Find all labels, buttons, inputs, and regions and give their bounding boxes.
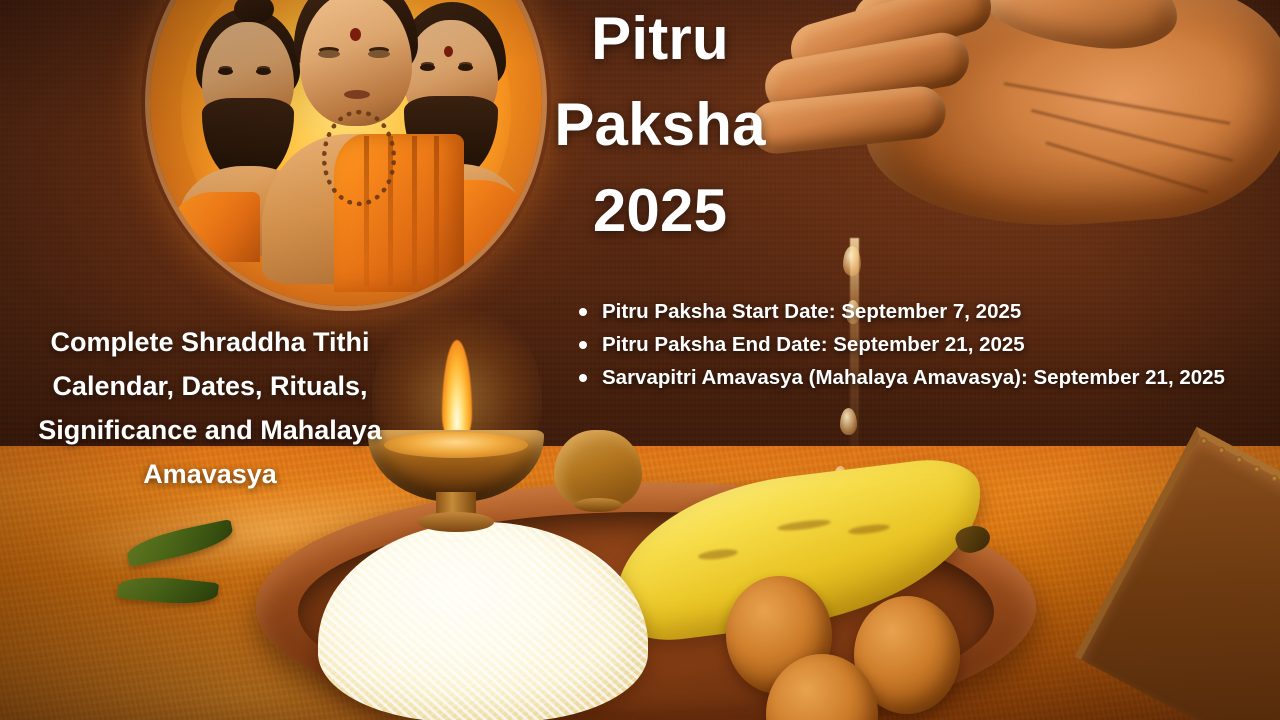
sage-tilak (444, 46, 453, 57)
robe-fold (434, 136, 439, 286)
page-title: Pitru Paksha 2025 (530, 0, 790, 254)
sage-head (300, 0, 412, 126)
banana-spot (848, 523, 891, 536)
title-line-3: 2025 (530, 168, 790, 254)
sage-eye-left (218, 68, 233, 75)
brass-kalash (554, 430, 642, 506)
sage-tilak (350, 28, 361, 41)
rudraksha-mala (322, 110, 396, 206)
banana-spot (777, 518, 832, 533)
banana-spot (698, 548, 739, 562)
subtitle-caption: Complete Shraddha Tithi Calendar, Dates,… (0, 320, 424, 496)
sage-eye-right (458, 64, 473, 71)
water-droplet (843, 246, 861, 276)
sage-mouth (344, 90, 370, 99)
list-item-amavasya: Sarvapitri Amavasya (Mahalaya Amavasya):… (570, 362, 1270, 393)
water-droplet (840, 408, 857, 435)
sage-eye-right (368, 50, 390, 58)
robe-fold (412, 136, 417, 286)
diya-base (418, 512, 494, 532)
ancestors-portrait (150, 0, 542, 306)
list-item-end-date: Pitru Paksha End Date: September 21, 202… (570, 329, 1270, 360)
portrait-circular-frame (150, 0, 542, 306)
list-item-start-date: Pitru Paksha Start Date: September 7, 20… (570, 296, 1270, 327)
pitru-paksha-poster: Pitru Paksha 2025 Complete Shraddha Tith… (0, 0, 1280, 720)
sage-saffron-robe (168, 192, 260, 262)
title-line-1: Pitru (530, 0, 790, 82)
sage-eye-left (318, 50, 340, 58)
title-line-2: Paksha (530, 82, 790, 168)
kalash-foot (574, 498, 622, 512)
sage-figure-center (268, 0, 444, 284)
tarpan-hand (742, 0, 1280, 294)
key-dates-list: Pitru Paksha Start Date: September 7, 20… (570, 296, 1270, 395)
